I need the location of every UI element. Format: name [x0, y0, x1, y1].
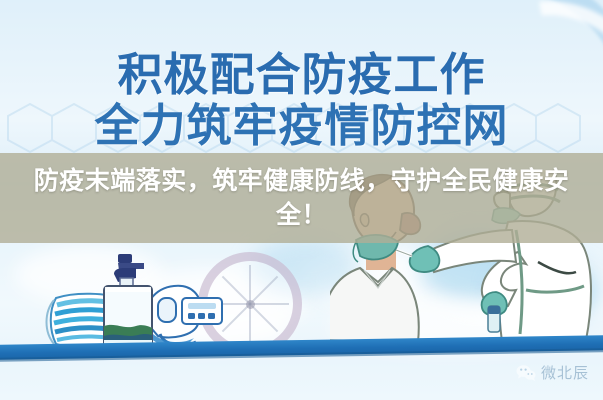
watermark-label: 微北辰: [541, 362, 589, 383]
watermark: 微北辰: [516, 362, 589, 383]
spray-bottle-icon: [92, 252, 164, 356]
caption-overlay-band: 防疫末端落实，筑牢健康防线，守护全民健康安全！: [0, 153, 603, 243]
covid-prevention-poster: 积极配合防疫工作 全力筑牢疫情防控网: [0, 0, 603, 400]
caption-text: 防疫末端落实，筑牢健康防线，守护全民健康安全！: [22, 164, 582, 233]
wechat-icon: [516, 364, 536, 382]
